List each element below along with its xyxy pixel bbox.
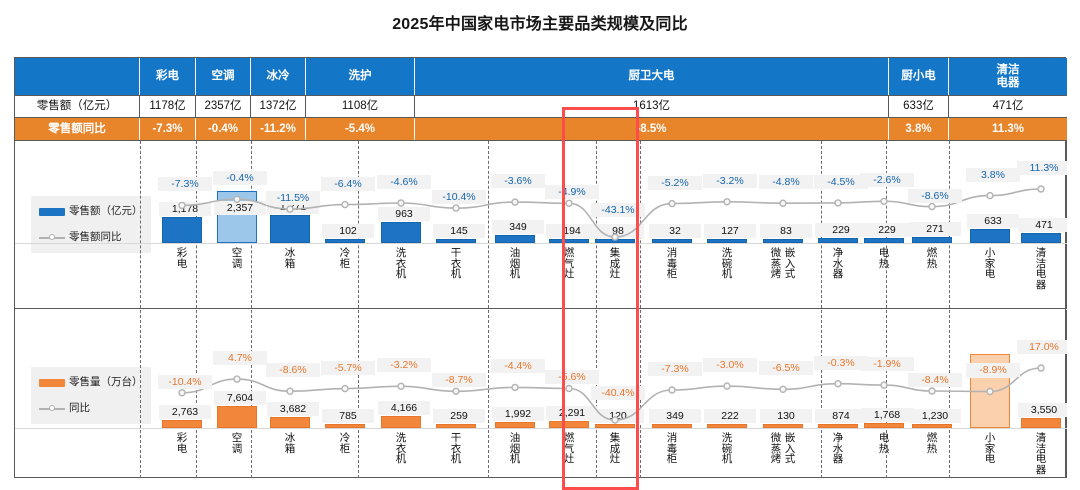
group-amount-1: 2357亿 [196, 96, 251, 117]
group-yoy-5: 3.8% [889, 118, 949, 140]
group-yoy-1: -0.4% [196, 118, 251, 140]
group-header-2: 冰冷 [251, 58, 306, 95]
yoy-label-冷柜: -6.4% [321, 177, 375, 191]
yoy-label-冷柜: -5.7% [321, 361, 375, 375]
yoy-label-电热: -2.6% [860, 173, 914, 187]
yoy-label-洗碗机: -3.0% [703, 358, 757, 372]
yoy-label-空调: 4.7% [213, 351, 267, 365]
yoy-label-油烟机: -4.4% [491, 359, 545, 373]
yoy-label-小家电: -8.9% [966, 363, 1020, 377]
group-header-0: 彩电 [140, 58, 196, 95]
group-amount-4: 1613亿 [415, 96, 889, 117]
group-amount-3: 1108亿 [306, 96, 415, 117]
yoy-label-燃气灶: -5.6% [545, 370, 599, 384]
yoy-label-集成灶: -40.4% [591, 386, 645, 400]
yoy-label-消毒柜: -5.2% [648, 176, 702, 190]
chart-page: 2025年中国家电市场主要品类规模及同比 彩电空调冰冷洗护厨卫大电厨小电清洁电器… [0, 0, 1080, 490]
row-label-amount: 零售额（亿元） [15, 96, 140, 117]
group-yoy-0: -7.3% [140, 118, 196, 140]
group-yoy-6: 11.3% [949, 118, 1067, 140]
yoy-label-空调: -0.4% [213, 171, 267, 185]
retail-amount-chart: 零售额（亿元） 零售额同比 1,178彩电2,357空调1,271冰箱102冷柜… [15, 141, 1067, 309]
yoy-label-彩电: -7.3% [158, 177, 212, 191]
group-amount-6: 471亿 [949, 96, 1067, 117]
group-header-3: 洗护 [306, 58, 415, 95]
yoy-line-series [15, 310, 1067, 478]
yoy-label-清洁电器: 11.3% [1017, 161, 1067, 175]
yoy-label-洗碗机: -3.2% [703, 174, 757, 188]
yoy-label-油烟机: -3.6% [491, 174, 545, 188]
yoy-label-微蒸烤嵌入式: -6.5% [759, 361, 813, 375]
yoy-label-清洁电器: 17.0% [1017, 340, 1067, 354]
yoy-label-电热: -1.9% [860, 357, 914, 371]
yoy-label-洗衣机: -3.2% [377, 358, 431, 372]
page-title: 2025年中国家电市场主要品类规模及同比 [0, 10, 1080, 34]
table-yoy-row: 零售额同比-7.3%-0.4%-11.2%-5.4%-8.5%3.8%11.3% [15, 118, 1067, 141]
yoy-line-series [15, 141, 1067, 309]
group-header-5: 厨小电 [889, 58, 949, 95]
group-header-6: 清洁电器 [949, 58, 1067, 95]
table-corner-cell [15, 58, 140, 95]
chart-frame: 彩电空调冰冷洗护厨卫大电厨小电清洁电器 零售额（亿元）1178亿2357亿137… [14, 57, 1066, 478]
yoy-label-小家电: 3.8% [966, 168, 1020, 182]
group-amount-2: 1372亿 [251, 96, 306, 117]
row-label-yoy: 零售额同比 [15, 118, 140, 140]
group-header-1: 空调 [196, 58, 251, 95]
yoy-label-干衣机: -8.7% [432, 373, 486, 387]
yoy-label-微蒸烤嵌入式: -4.8% [759, 175, 813, 189]
yoy-label-消毒柜: -7.3% [648, 362, 702, 376]
group-yoy-3: -5.4% [306, 118, 415, 140]
yoy-label-彩电: -10.4% [158, 375, 212, 389]
yoy-label-冰箱: -8.6% [266, 363, 320, 377]
group-yoy-4: -8.5% [415, 118, 889, 140]
yoy-label-干衣机: -10.4% [432, 190, 486, 204]
yoy-label-燃热: -8.6% [908, 189, 962, 203]
yoy-label-冰箱: -11.5% [266, 191, 320, 205]
table-amount-row: 零售额（亿元）1178亿2357亿1372亿1108亿1613亿633亿471亿 [15, 95, 1067, 118]
yoy-label-燃热: -8.4% [908, 373, 962, 387]
yoy-label-洗衣机: -4.6% [377, 175, 431, 189]
yoy-label-燃气灶: -4.9% [545, 185, 599, 199]
group-header-4: 厨卫大电 [415, 58, 889, 95]
group-amount-5: 633亿 [889, 96, 949, 117]
yoy-label-集成灶: -43.1% [591, 203, 645, 217]
table-header-row: 彩电空调冰冷洗护厨卫大电厨小电清洁电器 [15, 58, 1067, 95]
retail-volume-chart: 零售量（万台） 同比 2,763彩电7,604空调3,682冰箱785冷柜4,1… [15, 310, 1067, 478]
group-amount-0: 1178亿 [140, 96, 196, 117]
group-yoy-2: -11.2% [251, 118, 306, 140]
